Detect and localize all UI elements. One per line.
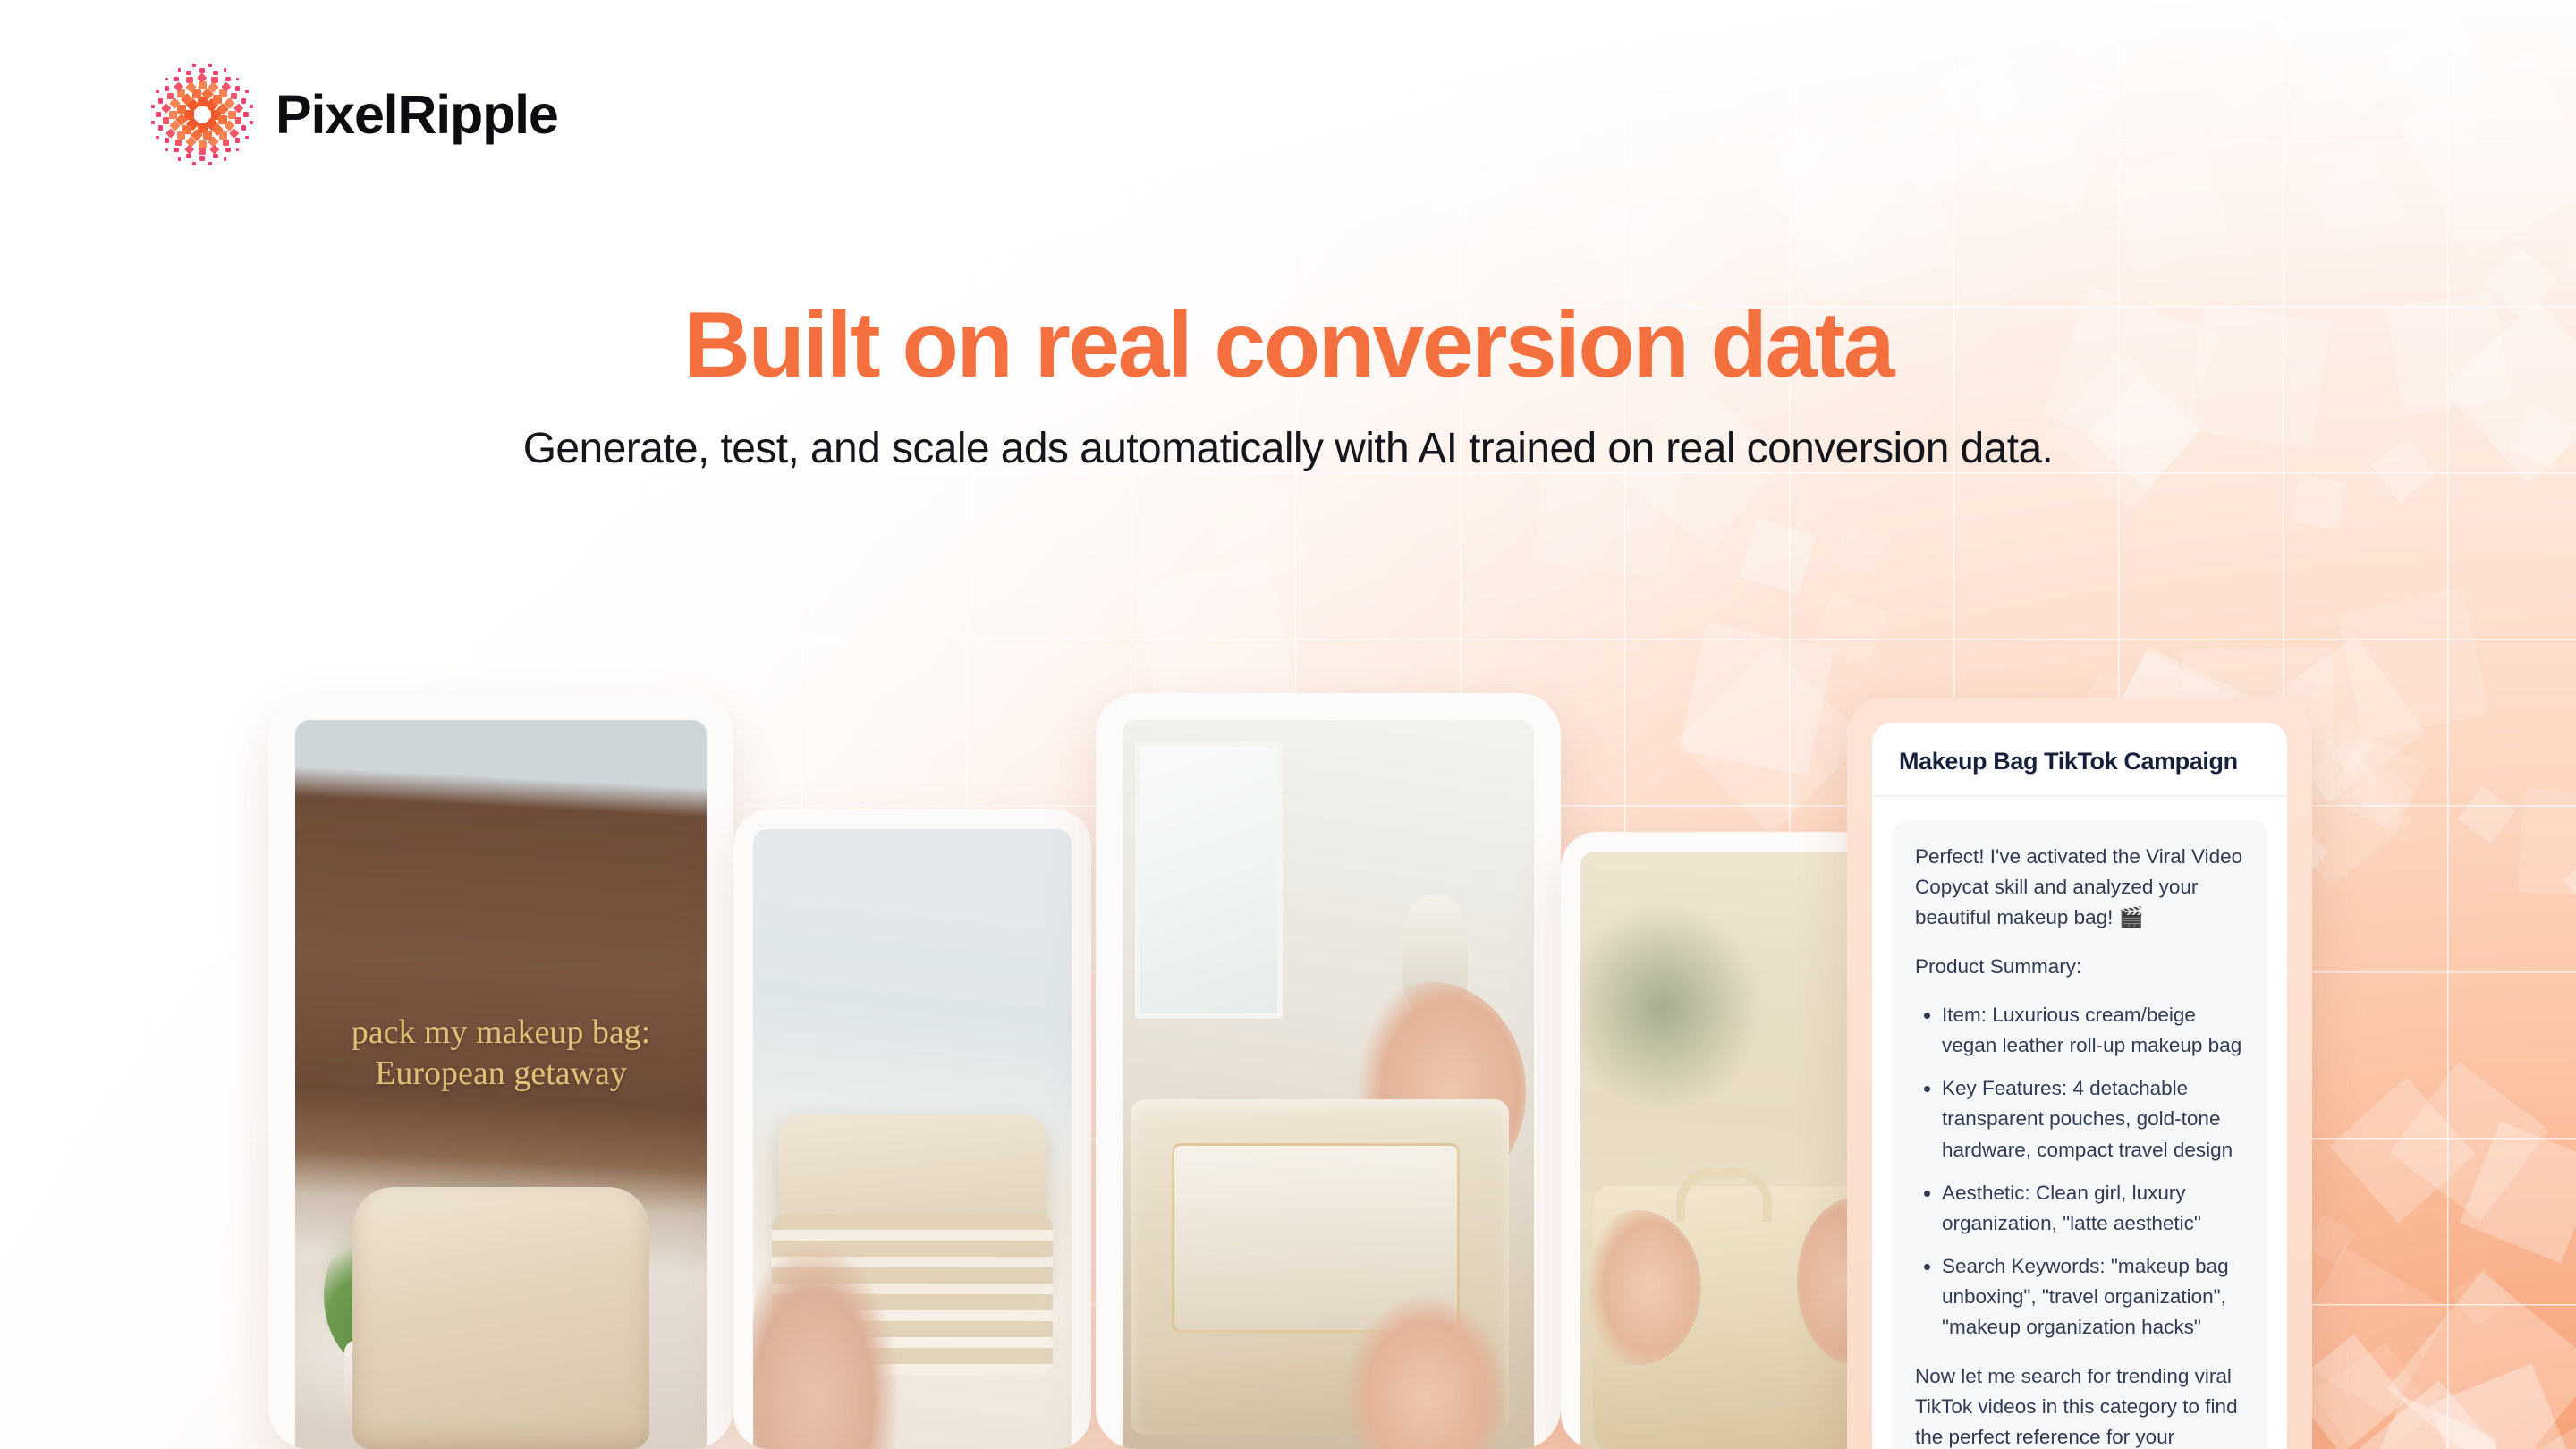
phone-screen-2 — [753, 829, 1072, 1449]
video-caption-line-1: pack my makeup bag: — [295, 1012, 707, 1053]
chat-panel: Makeup Bag TikTok Campaign Perfect! I've… — [1872, 723, 2287, 1449]
chat-message-intro: Perfect! I've activated the Viral Video … — [1915, 842, 2244, 934]
list-item: Aesthetic: Clean girl, luxury organizati… — [1942, 1178, 2244, 1239]
list-item: Key Features: 4 detachable transparent p… — [1942, 1073, 2244, 1165]
chat-panel-frame: Makeup Bag TikTok Campaign Perfect! I've… — [1847, 698, 2312, 1449]
video-caption-1: pack my makeup bag: European getaway — [295, 1012, 707, 1095]
hero-section: Built on real conversion data Generate, … — [0, 295, 2576, 478]
chat-bullet-list: Item: Luxurious cream/beige vegan leathe… — [1915, 1000, 2244, 1343]
hand-decor-2 — [1344, 1274, 1509, 1449]
phone-mockup-1[interactable]: pack my makeup bag: European getaway — [268, 693, 733, 1449]
radial-burst-icon — [152, 64, 252, 165]
video-thumbnail-3 — [1123, 720, 1534, 1449]
video-thumbnail-2 — [753, 829, 1072, 1449]
brand-logo[interactable]: PixelRipple — [152, 64, 558, 165]
brand-name: PixelRipple — [275, 88, 558, 142]
list-item: Item: Luxurious cream/beige vegan leathe… — [1942, 1000, 2244, 1061]
makeup-bag-product — [352, 1187, 648, 1449]
window-decor — [1135, 741, 1284, 1019]
phone-mockup-2[interactable] — [733, 809, 1091, 1449]
page-title: Built on real conversion data — [0, 295, 2576, 395]
chat-title: Makeup Bag TikTok Campaign — [1872, 723, 2287, 797]
bag-handle — [1676, 1168, 1772, 1222]
page-subtitle: Generate, test, and scale ads automatica… — [380, 420, 2196, 477]
video-caption-line-2: European getaway — [295, 1053, 707, 1094]
video-thumbnail-1: pack my makeup bag: European getaway — [295, 720, 707, 1449]
hand-decor — [753, 1201, 906, 1449]
chat-summary-heading: Product Summary: — [1915, 952, 2244, 982]
chat-message-assistant: Perfect! I've activated the Viral Video … — [1892, 820, 2267, 1449]
phone-screen-3 — [1123, 720, 1534, 1449]
phone-screen-1: pack my makeup bag: European getaway — [295, 720, 707, 1449]
chat-body: Perfect! I've activated the Viral Video … — [1872, 797, 2287, 1449]
chat-message-outro: Now let me search for trending viral Tik… — [1915, 1361, 2244, 1449]
list-item: Search Keywords: "makeup bag unboxing", … — [1942, 1251, 2244, 1343]
phone-mockup-3[interactable] — [1096, 693, 1561, 1449]
